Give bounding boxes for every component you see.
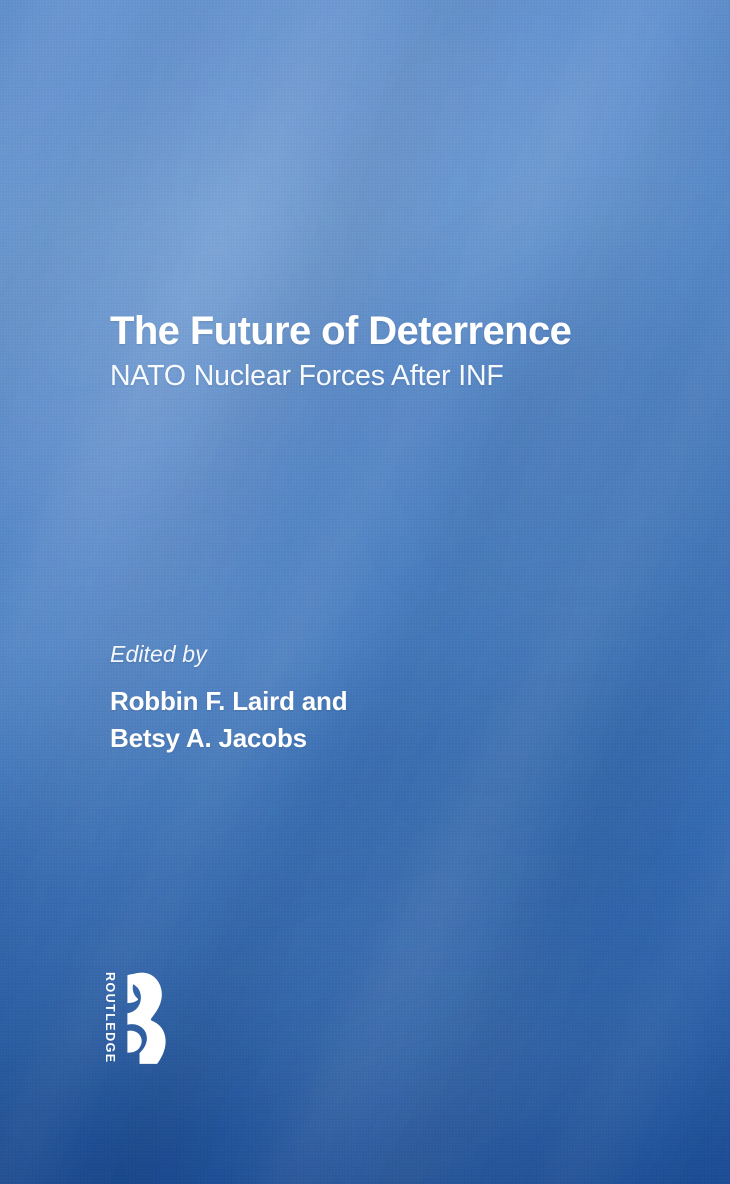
routledge-wordmark-text: ROUTLEDGE: [104, 972, 117, 1064]
book-title: The Future of Deterrence: [110, 310, 690, 353]
routledge-logo: ROUTLEDGE: [103, 970, 187, 1070]
edited-by-label: Edited by: [110, 641, 690, 668]
editor-name: Betsy A. Jacobs: [110, 720, 690, 757]
editor-name: Robbin F. Laird and: [110, 683, 690, 720]
editor-block: Edited by Robbin F. Laird and Betsy A. J…: [110, 641, 690, 757]
routledge-wordmark: ROUTLEDGE: [103, 972, 119, 1068]
book-subtitle: NATO Nuclear Forces After INF: [110, 361, 690, 393]
title-block: The Future of Deterrence NATO Nuclear Fo…: [110, 310, 690, 393]
editor-names: Robbin F. Laird and Betsy A. Jacobs: [110, 683, 690, 757]
book-cover: The Future of Deterrence NATO Nuclear Fo…: [0, 0, 730, 1184]
